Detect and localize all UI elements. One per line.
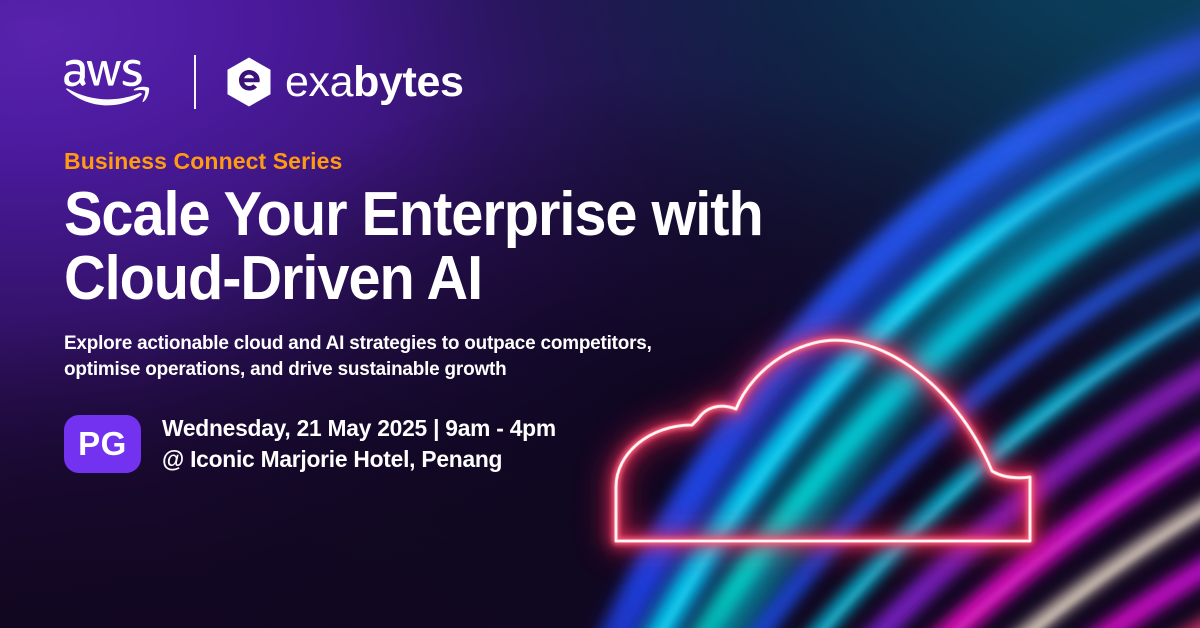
promotional-banner: exabytes Business Connect Series Scale Y…	[0, 0, 1200, 628]
eyebrow-label: Business Connect Series	[64, 148, 1200, 175]
event-datetime: Wednesday, 21 May 2025 | 9am - 4pm	[162, 413, 556, 444]
event-details: PG Wednesday, 21 May 2025 | 9am - 4pm @ …	[64, 413, 1200, 475]
page-title: Scale Your Enterprise with Cloud-Driven …	[64, 183, 1120, 312]
subtitle: Explore actionable cloud and AI strategi…	[64, 330, 1166, 383]
event-venue: @ Iconic Marjorie Hotel, Penang	[162, 444, 556, 475]
location-badge: PG	[64, 415, 141, 473]
subtitle-line-1: Explore actionable cloud and AI strategi…	[64, 330, 1166, 356]
event-text: Wednesday, 21 May 2025 | 9am - 4pm @ Ico…	[162, 413, 556, 475]
exabytes-hexagon-e-icon	[226, 57, 272, 107]
banner-content: exabytes Business Connect Series Scale Y…	[0, 0, 1200, 628]
logo-row: exabytes	[64, 52, 1200, 112]
subtitle-line-2: optimise operations, and drive sustainab…	[64, 356, 1166, 382]
logo-divider	[194, 55, 196, 109]
exabytes-wordmark: exabytes	[285, 61, 463, 104]
headline-line-2: Cloud-Driven AI	[64, 247, 1120, 311]
exabytes-word-light: exa	[285, 58, 353, 106]
exabytes-logo: exabytes	[226, 57, 463, 107]
exabytes-word-bold: bytes	[353, 58, 463, 106]
headline-line-1: Scale Your Enterprise with	[64, 183, 1120, 247]
aws-logo-icon	[64, 56, 162, 108]
